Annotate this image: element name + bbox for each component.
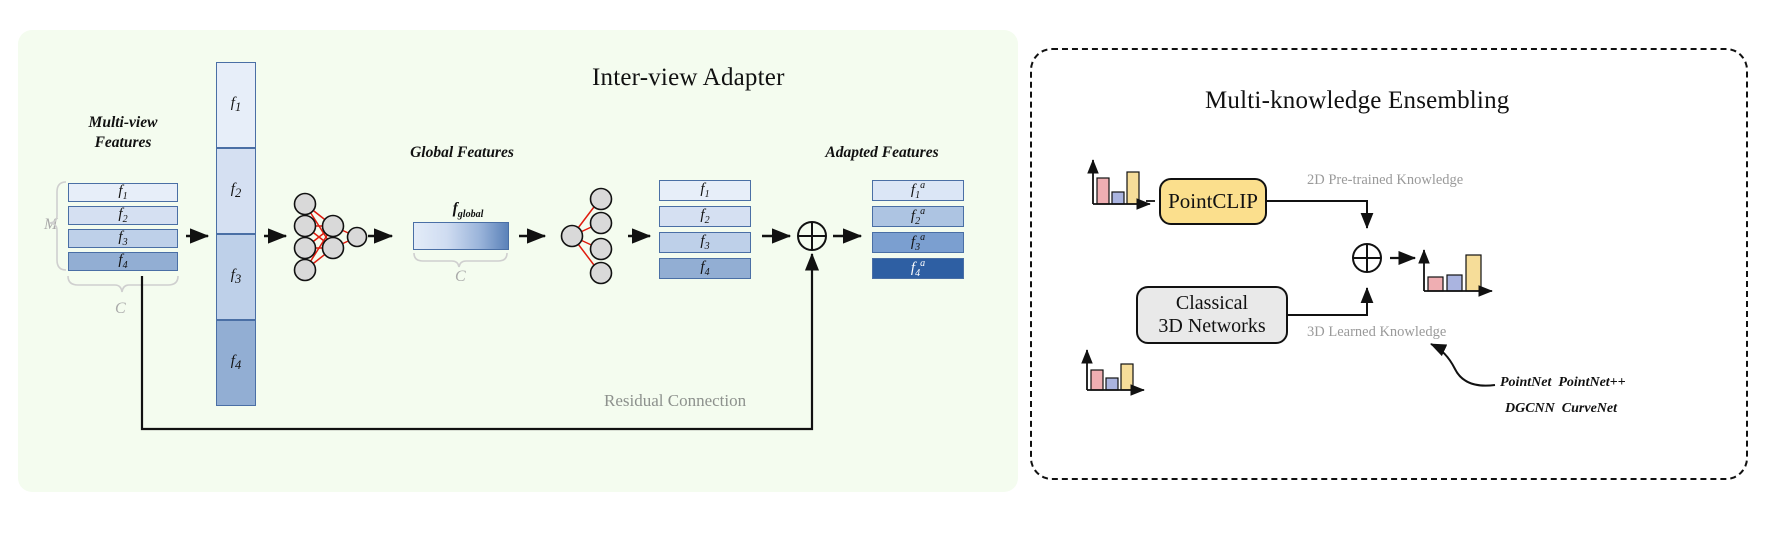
residual-connection-label: Residual Connection — [604, 391, 746, 411]
residual-feature-box-3: f3 — [659, 232, 751, 253]
classical-3d-networks-box[interactable]: Classical 3D Networks — [1136, 286, 1288, 344]
concat-cell-4: f4 — [216, 320, 256, 406]
feature-label: f4 — [118, 252, 127, 271]
knowledge-2d-label: 2D Pre-trained Knowledge — [1307, 172, 1463, 189]
concatenated-feature-column: f1 f2 f3 f4 — [216, 62, 256, 406]
adapted-feature-box-3: f3a — [872, 232, 964, 253]
pointclip-box[interactable]: PointCLIP — [1159, 178, 1267, 225]
feature-label: f2 — [231, 181, 241, 201]
adapted-feature-box-1: f1a — [872, 180, 964, 201]
dim-label-m: M — [44, 216, 57, 234]
pointclip-label: PointCLIP — [1168, 189, 1258, 213]
feature-label: f1 — [700, 181, 709, 200]
concat-cell-2: f2 — [216, 148, 256, 234]
feature-label: f2a — [911, 206, 925, 227]
multiview-features-label-line2: Features — [68, 133, 178, 152]
knowledge-3d-label: 3D Learned Knowledge — [1307, 324, 1446, 341]
classical-label: Classical 3D Networks — [1158, 292, 1265, 338]
feature-label: f3 — [118, 229, 127, 248]
residual-feature-box-2: f2 — [659, 206, 751, 227]
feature-label: f1 — [231, 95, 241, 115]
feature-label: f4a — [911, 258, 925, 279]
page-title-inter-view-adapter: Inter-view Adapter — [592, 64, 785, 92]
multiview-feature-box-4: f4 — [68, 252, 178, 271]
feature-label: f3 — [700, 233, 709, 252]
concat-cell-1: f1 — [216, 62, 256, 148]
dim-label-c-global: C — [455, 268, 466, 286]
global-features-label: Global Features — [397, 143, 527, 162]
adapted-features-label: Adapted Features — [812, 143, 952, 162]
page-title-multi-knowledge: Multi-knowledge Ensembling — [1205, 87, 1509, 115]
network-names-line2: DGCNN CurveNet — [1505, 401, 1617, 417]
multiview-feature-box-3: f3 — [68, 229, 178, 248]
feature-label: f4 — [231, 353, 241, 373]
feature-label: f2 — [700, 207, 709, 226]
feature-label: f2 — [118, 206, 127, 225]
feature-label: f3a — [911, 232, 925, 253]
f-global-label: fglobal — [438, 199, 498, 222]
network-names-line1: PointNet PointNet++ — [1500, 375, 1626, 391]
adapted-feature-box-4: f4a — [872, 258, 964, 279]
feature-label: f3 — [231, 267, 241, 287]
global-feature-bar — [413, 222, 509, 250]
feature-label: f1a — [911, 180, 925, 201]
multiview-feature-box-2: f2 — [68, 206, 178, 225]
multiview-feature-box-1: f1 — [68, 183, 178, 202]
feature-label: f4 — [700, 259, 709, 278]
multiview-features-label-line1: Multi-view — [68, 113, 178, 132]
dim-label-c-input: C — [115, 300, 126, 318]
residual-feature-box-1: f1 — [659, 180, 751, 201]
adapted-feature-box-2: f2a — [872, 206, 964, 227]
feature-label: f1 — [118, 183, 127, 202]
residual-feature-box-4: f4 — [659, 258, 751, 279]
concat-cell-3: f3 — [216, 234, 256, 320]
